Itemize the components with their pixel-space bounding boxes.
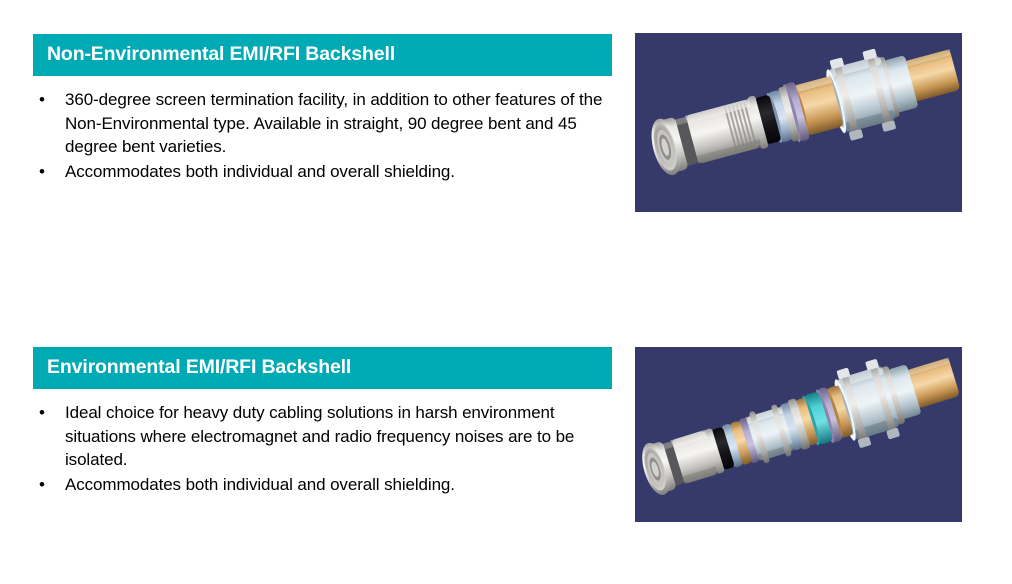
bullet-icon: • (39, 401, 49, 425)
feature-list: • Ideal choice for heavy duty cabling so… (38, 401, 613, 497)
list-item-text: Accommodates both individual and overall… (65, 473, 613, 497)
bullet-icon: • (39, 473, 49, 497)
list-item: • 360-degree screen termination facility… (38, 88, 613, 159)
list-item: • Ideal choice for heavy duty cabling so… (38, 401, 613, 472)
list-item-text: 360-degree screen termination facility, … (65, 88, 613, 159)
backshell-connector-illustration (635, 33, 962, 212)
list-item-text: Accommodates both individual and overall… (65, 160, 613, 184)
backshell-connector-illustration (635, 347, 962, 522)
section-text-column: Non-Environmental EMI/RFI Backshell • 36… (33, 34, 613, 76)
list-item: • Accommodates both individual and overa… (38, 473, 613, 497)
list-item: • Accommodates both individual and overa… (38, 160, 613, 184)
feature-list: • 360-degree screen termination facility… (38, 88, 613, 184)
section-title: Non-Environmental EMI/RFI Backshell (47, 45, 395, 65)
list-item-text: Ideal choice for heavy duty cabling solu… (65, 401, 613, 472)
section-text-column: Environmental EMI/RFI Backshell • Ideal … (33, 347, 613, 389)
product-image-non-environmental (635, 33, 962, 212)
section-header-bar: Non-Environmental EMI/RFI Backshell (33, 34, 612, 76)
section-header-bar: Environmental EMI/RFI Backshell (33, 347, 612, 389)
bullet-icon: • (39, 160, 49, 184)
product-image-environmental (635, 347, 962, 522)
bullet-icon: • (39, 88, 49, 112)
section-title: Environmental EMI/RFI Backshell (47, 358, 351, 378)
